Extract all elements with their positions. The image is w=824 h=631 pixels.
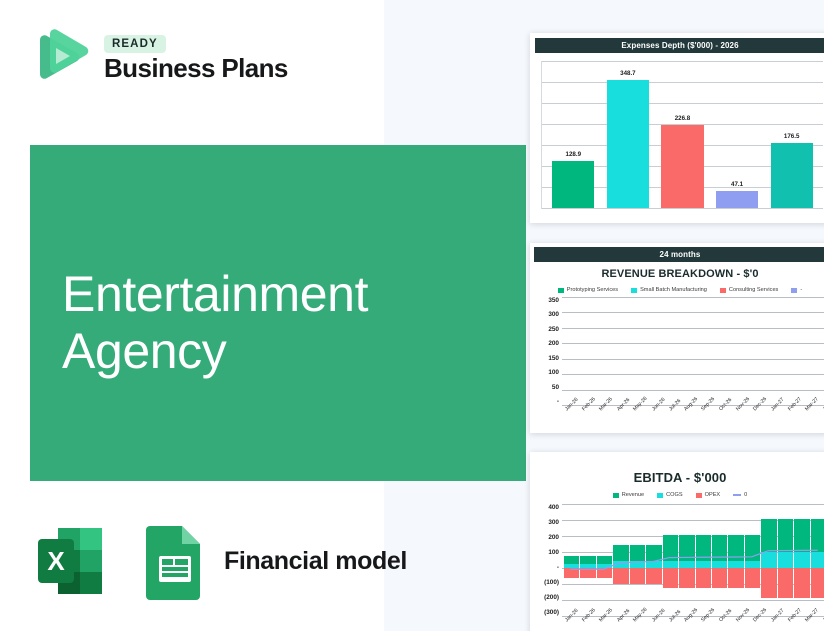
ebitda-zero-line	[562, 504, 824, 616]
revenue-banner: 24 months	[534, 247, 824, 262]
bar	[552, 161, 594, 208]
bar-value-label: 348.7	[586, 70, 671, 77]
y-tick-label: 200	[534, 340, 559, 347]
revenue-y-axis: 35030025020015010050-	[534, 297, 562, 405]
y-tick-label: 200	[534, 534, 559, 541]
google-sheets-icon	[144, 522, 206, 600]
bar-value-label: 226.8	[640, 115, 725, 122]
revenue-x-axis: Jan-26Feb-26Mar-26Apr-26May-26Jun-26Jul-…	[564, 406, 824, 432]
legend-item: COGS	[657, 492, 682, 498]
ebitda-x-axis: Jan-26Feb-26Mar-26Apr-26May-26Jun-26Jul-…	[564, 617, 824, 631]
chart-title-revenue-breakdown: REVENUE BREAKDOWN - $'0	[534, 268, 824, 280]
legend-item: Small Batch Manufacturing	[631, 287, 707, 293]
bar	[771, 143, 813, 208]
ebitda-y-axis: 400300200100-(100)(200)(300)	[534, 504, 562, 616]
legend-item: Prototyping Services	[558, 287, 618, 293]
legend-label: OPEX	[705, 492, 721, 498]
legend-swatch-icon	[696, 493, 702, 498]
y-tick-label: 100	[534, 549, 559, 556]
bar	[661, 125, 703, 208]
chart-title-expenses-depth: Expenses Depth ($'000) - 2026	[535, 38, 824, 53]
revenue-plot-area	[562, 297, 824, 405]
chart-title-ebitda: EBITDA - $'000	[534, 470, 824, 485]
legend-label: Revenue	[622, 492, 644, 498]
legend-item: -	[791, 287, 802, 293]
legend-item: Consulting Services	[720, 287, 778, 293]
ebitda-legend: RevenueCOGSOPEX0	[534, 492, 824, 498]
bar	[607, 80, 649, 208]
legend-swatch-icon	[558, 288, 564, 293]
legend-label: -	[800, 287, 802, 293]
play-triangle-logo-icon	[30, 28, 90, 90]
y-tick-label: 150	[534, 355, 559, 362]
gridline	[542, 208, 823, 209]
brand-logo: READY Business Plans	[30, 28, 288, 90]
legend-item: Revenue	[613, 492, 644, 498]
y-tick-label: 300	[534, 311, 559, 318]
legend-line-icon	[733, 494, 741, 496]
legend-label: Small Batch Manufacturing	[640, 287, 707, 293]
y-tick-label: 250	[534, 326, 559, 333]
expenses-bars: 128.9348.7226.847.1176.5	[542, 61, 823, 208]
y-tick-label: (100)	[534, 579, 559, 586]
bar-slot: 128.9	[552, 61, 594, 208]
bar-slot: 176.5	[771, 61, 813, 208]
legend-swatch-icon	[613, 493, 619, 498]
expenses-plot-area: 128.9348.7226.847.1176.5	[541, 61, 823, 209]
page-title: Entertainment Agency	[62, 266, 502, 379]
legend-swatch-icon	[657, 493, 663, 498]
bar-value-label: 176.5	[749, 133, 824, 140]
footer-row: X Financial model	[30, 522, 407, 600]
revenue-bars	[562, 297, 824, 405]
y-tick-label: 400	[534, 504, 559, 511]
y-tick-label: 50	[534, 384, 559, 391]
legend-label: Prototyping Services	[567, 287, 618, 293]
y-tick-label: (300)	[534, 609, 559, 616]
bar-slot: 348.7	[607, 61, 649, 208]
chart-card-ebitda[interactable]: EBITDA - $'000 RevenueCOGSOPEX0 40030020…	[530, 452, 824, 631]
bar	[716, 191, 758, 208]
revenue-legend: Prototyping ServicesSmall Batch Manufact…	[534, 287, 824, 293]
legend-swatch-icon	[631, 288, 637, 293]
y-tick-label: -	[534, 564, 559, 571]
bar-value-label: 128.9	[531, 151, 616, 158]
bar-value-label: 47.1	[695, 181, 780, 188]
legend-item: 0	[733, 492, 747, 498]
microsoft-excel-icon: X	[30, 522, 126, 600]
legend-label: 0	[744, 492, 747, 498]
legend-label: COGS	[666, 492, 682, 498]
legend-swatch-icon	[791, 288, 797, 293]
y-tick-label: 300	[534, 519, 559, 526]
chart-card-expenses-depth[interactable]: Expenses Depth ($'000) - 2026 128.9348.7…	[530, 33, 824, 223]
y-tick-label: 100	[534, 369, 559, 376]
ebitda-plot-area	[562, 504, 824, 616]
legend-swatch-icon	[720, 288, 726, 293]
y-tick-label: 350	[534, 297, 559, 304]
financial-model-label: Financial model	[224, 547, 407, 576]
chart-card-revenue-breakdown[interactable]: 24 months REVENUE BREAKDOWN - $'0 Protot…	[530, 243, 824, 433]
legend-item: OPEX	[696, 492, 721, 498]
legend-label: Consulting Services	[729, 287, 778, 293]
y-tick-label: -	[534, 398, 559, 405]
ready-badge: READY	[104, 35, 166, 53]
svg-text:X: X	[47, 546, 65, 576]
poster-canvas: READY Business Plans Entertainment Agenc…	[0, 0, 824, 631]
brand-name: Business Plans	[104, 55, 288, 82]
y-tick-label: (200)	[534, 594, 559, 601]
